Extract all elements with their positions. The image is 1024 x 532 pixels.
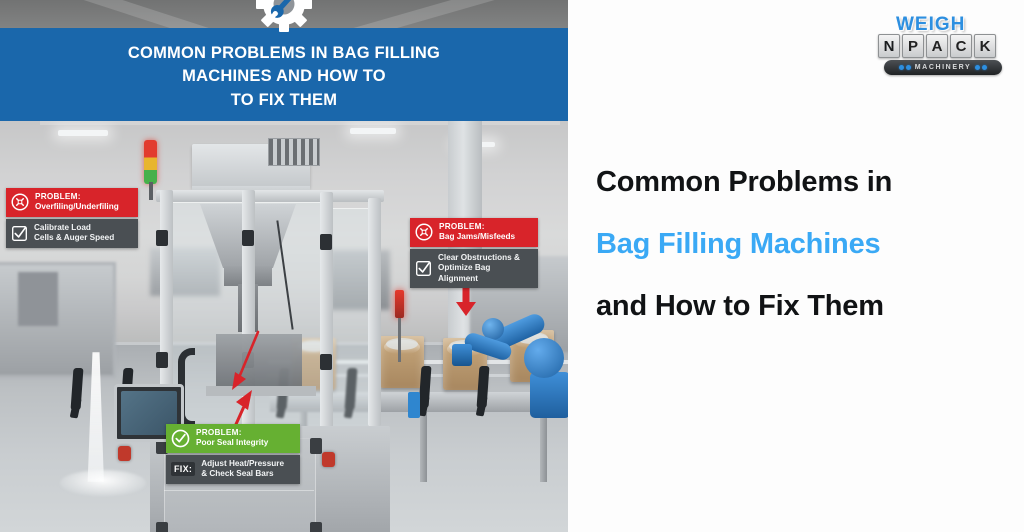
headline-line-3: and How to Fix Them — [596, 292, 1006, 321]
panel-hinge — [156, 230, 168, 246]
logo-dot-icon — [906, 65, 911, 70]
logo-dot-icon — [982, 65, 987, 70]
stack-light-icon — [144, 140, 157, 184]
logo-letter-p: P — [902, 34, 924, 58]
sensor-light-icon — [395, 290, 404, 318]
callout-fix-box: Calibrate Load Cells & Auger Speed — [6, 219, 138, 248]
logo-weigh-text: WEIGH — [896, 14, 965, 36]
machine-frame-beam — [156, 190, 384, 202]
callout-problem-value: Overfiling/Underfiling — [35, 202, 119, 212]
callout-problem-text: PROBLEM: Poor Seal Integrity — [196, 428, 268, 449]
checkbox-checked-icon — [11, 225, 28, 242]
powder-pile — [60, 470, 146, 496]
logo-machinery-bar: MACHINERY — [884, 60, 1002, 75]
callout-problem-value: Bag Jams/Misfeeds — [439, 232, 515, 242]
bag-opening — [386, 338, 418, 350]
callout-problem-value: Poor Seal Integrity — [196, 438, 268, 448]
banner-title-line-2: MACHINES AND HOW TO — [182, 67, 386, 85]
ceiling-light-icon — [58, 130, 108, 136]
logo-letter-n: N — [878, 34, 900, 58]
conveyor-leg — [540, 412, 547, 482]
callout-overfilling: PROBLEM: Overfiling/Underfiling Calibrat… — [6, 188, 138, 248]
machine-base-seam — [164, 490, 314, 491]
banner-title-line-3: TO FIX THEM — [231, 91, 337, 109]
content-pane: WEIGH N P A C K MACHINERY C — [568, 0, 1024, 532]
robot-arm — [478, 280, 568, 420]
panel-bolt — [156, 522, 168, 532]
logo-dot-icon — [899, 65, 904, 70]
callout-fix-text: Clear Obstructions & Optimize Bag Alignm… — [438, 253, 531, 285]
callout-problem-label: PROBLEM: — [439, 222, 515, 232]
wrench-circle-x-icon — [11, 193, 29, 211]
scene-blue-accent — [408, 392, 420, 418]
callout-fix-line-2: Cells & Auger Speed — [34, 233, 114, 244]
sensor-pole — [398, 318, 401, 362]
logo-npack-blocks: N P A C K — [878, 34, 996, 58]
logo-dot-group-left — [899, 65, 911, 70]
logo-letter-c: C — [950, 34, 972, 58]
headline-line-2: Bag Filling Machines — [596, 230, 1006, 259]
machine-photo-panel: COMMON PROBLEMS IN BAG FILLING MACHINES … — [0, 0, 568, 532]
conveyor-leg — [420, 412, 427, 482]
banner: COMMON PROBLEMS IN BAG FILLING MACHINES … — [0, 28, 568, 121]
wrench-circle-x-icon — [415, 223, 433, 241]
callout-seal-integrity: PROBLEM: Poor Seal Integrity FIX: Adjust… — [166, 424, 300, 484]
callout-fix-line-1: Clear Obstructions & — [438, 253, 531, 264]
callout-fix-text: Adjust Heat/Pressure & Check Seal Bars — [201, 459, 284, 480]
ceiling-light-icon — [350, 128, 396, 134]
callout-fix-line-2: & Check Seal Bars — [201, 469, 284, 480]
logo-dot-icon — [975, 65, 980, 70]
gear-wrench-icon — [251, 0, 317, 34]
panel-bolt — [310, 522, 322, 532]
callout-fix-box: Clear Obstructions & Optimize Bag Alignm… — [410, 249, 538, 289]
robot-joint — [524, 338, 564, 378]
robot-end-effector — [452, 344, 472, 366]
emergency-stop-button[interactable] — [322, 452, 335, 467]
callout-problem-box: PROBLEM: Bag Jams/Misfeeds — [410, 218, 538, 247]
machine-frame-column — [368, 198, 381, 426]
callout-fix-text: Calibrate Load Cells & Auger Speed — [34, 223, 114, 244]
callout-problem-box: PROBLEM: Overfiling/Underfiling — [6, 188, 138, 217]
logo-tagline: MACHINERY — [915, 64, 972, 71]
panel-bolt — [310, 438, 322, 454]
arrow-to-seal-area — [228, 330, 262, 392]
callout-problem-box: PROBLEM: Poor Seal Integrity — [166, 424, 300, 453]
panel-hinge — [320, 234, 332, 250]
robot-base — [530, 372, 568, 418]
callout-fix-tag: FIX: — [171, 462, 195, 476]
banner-title-line-1: COMMON PROBLEMS IN BAG FILLING — [128, 44, 440, 62]
emergency-stop-button[interactable] — [118, 446, 131, 461]
page-root: COMMON PROBLEMS IN BAG FILLING MACHINES … — [0, 0, 1024, 532]
machine-frame-column — [320, 192, 333, 428]
weigh-n-pack-logo[interactable]: WEIGH N P A C K MACHINERY — [870, 6, 1010, 84]
stack-light-pole — [149, 182, 153, 200]
filled-bag — [380, 336, 424, 388]
panel-hinge — [242, 230, 254, 246]
callout-bag-jams: PROBLEM: Bag Jams/Misfeeds Clear Obstruc… — [410, 218, 538, 288]
panel-hinge — [156, 352, 168, 368]
logo-letter-a: A — [926, 34, 948, 58]
headline-line-1: Common Problems in — [596, 168, 1006, 197]
callout-fix-line-2: Optimize Bag Alignment — [438, 263, 531, 284]
page-title: Common Problems in Bag Filling Machines … — [596, 168, 1006, 321]
logo-letter-k: K — [974, 34, 996, 58]
callout-fix-line-1: Calibrate Load — [34, 223, 114, 234]
check-circle-icon — [171, 429, 190, 448]
callout-problem-text: PROBLEM: Bag Jams/Misfeeds — [439, 222, 515, 243]
machine-guard-panel — [330, 208, 370, 428]
callout-fix-box: FIX: Adjust Heat/Pressure & Check Seal B… — [166, 455, 300, 484]
logo-dot-group-right — [975, 65, 987, 70]
panel-hinge — [320, 354, 332, 370]
banner-title: COMMON PROBLEMS IN BAG FILLING MACHINES … — [0, 42, 568, 112]
callout-problem-label: PROBLEM: — [35, 192, 119, 202]
callout-fix-line-1: Adjust Heat/Pressure — [201, 459, 284, 470]
background-machinery — [18, 272, 58, 326]
machine-vent — [268, 138, 320, 166]
checkbox-checked-icon — [415, 260, 432, 277]
callout-problem-label: PROBLEM: — [196, 428, 268, 438]
callout-problem-text: PROBLEM: Overfiling/Underfiling — [35, 192, 119, 213]
